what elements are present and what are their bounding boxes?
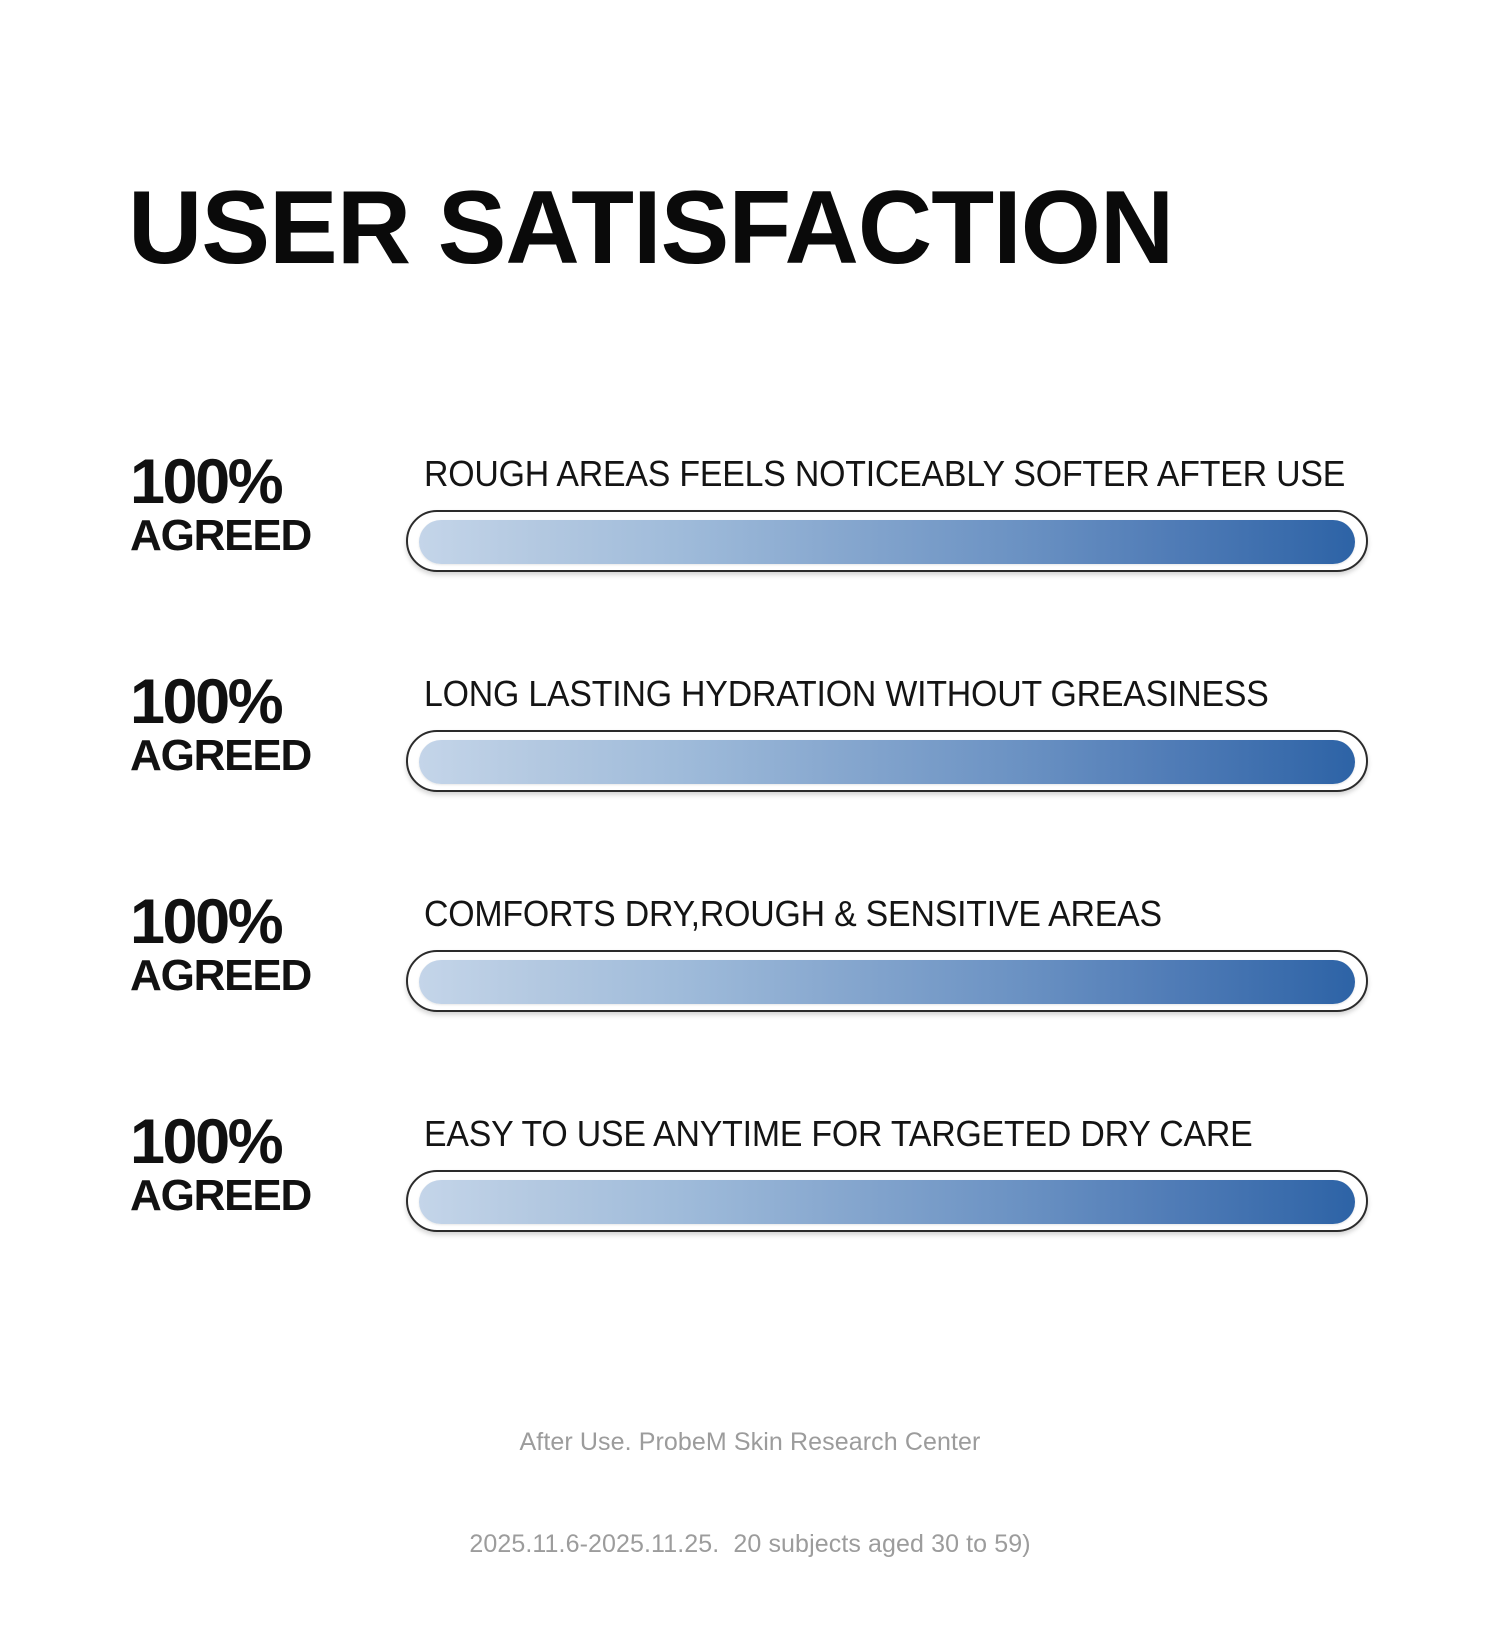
percent-block: 100% AGREED: [130, 1112, 390, 1218]
footnote: After Use. ProbeM Skin Research Center 2…: [0, 1357, 1500, 1629]
progress-bar-track: [406, 950, 1368, 1012]
percent-value: 100%: [130, 452, 390, 512]
satisfaction-rows: 100% AGREED ROUGH AREAS FEELS NOTICEABLY…: [0, 444, 1500, 1324]
progress-bar-fill: [419, 960, 1355, 1004]
statement-text: COMFORTS DRY,ROUGH & SENSITIVE AREAS: [424, 896, 1162, 932]
percent-value: 100%: [130, 892, 390, 952]
satisfaction-row: 100% AGREED EASY TO USE ANYTIME FOR TARG…: [0, 1104, 1500, 1324]
satisfaction-row: 100% AGREED COMFORTS DRY,ROUGH & SENSITI…: [0, 884, 1500, 1104]
satisfaction-row: 100% AGREED LONG LASTING HYDRATION WITHO…: [0, 664, 1500, 884]
percent-block: 100% AGREED: [130, 672, 390, 778]
satisfaction-row: 100% AGREED ROUGH AREAS FEELS NOTICEABLY…: [0, 444, 1500, 664]
progress-bar-fill: [419, 520, 1355, 564]
statement-text: ROUGH AREAS FEELS NOTICEABLY SOFTER AFTE…: [424, 456, 1345, 492]
agreed-label: AGREED: [130, 954, 390, 998]
statement-text: LONG LASTING HYDRATION WITHOUT GREASINES…: [424, 676, 1269, 712]
progress-bar-fill: [419, 1180, 1355, 1224]
progress-bar-track: [406, 730, 1368, 792]
progress-bar-fill: [419, 740, 1355, 784]
statement-text: EASY TO USE ANYTIME FOR TARGETED DRY CAR…: [424, 1116, 1252, 1152]
progress-bar-track: [406, 510, 1368, 572]
percent-block: 100% AGREED: [130, 452, 390, 558]
footnote-line-2: 2025.11.6-2025.11.25. 20 subjects aged 3…: [0, 1527, 1500, 1561]
page-title: USER SATISFACTION: [128, 176, 1173, 280]
footnote-line-1: After Use. ProbeM Skin Research Center: [0, 1425, 1500, 1459]
percent-block: 100% AGREED: [130, 892, 390, 998]
agreed-label: AGREED: [130, 1174, 390, 1218]
infographic-page: USER SATISFACTION 100% AGREED ROUGH AREA…: [0, 0, 1500, 1500]
agreed-label: AGREED: [130, 514, 390, 558]
agreed-label: AGREED: [130, 734, 390, 778]
progress-bar-track: [406, 1170, 1368, 1232]
percent-value: 100%: [130, 672, 390, 732]
percent-value: 100%: [130, 1112, 390, 1172]
